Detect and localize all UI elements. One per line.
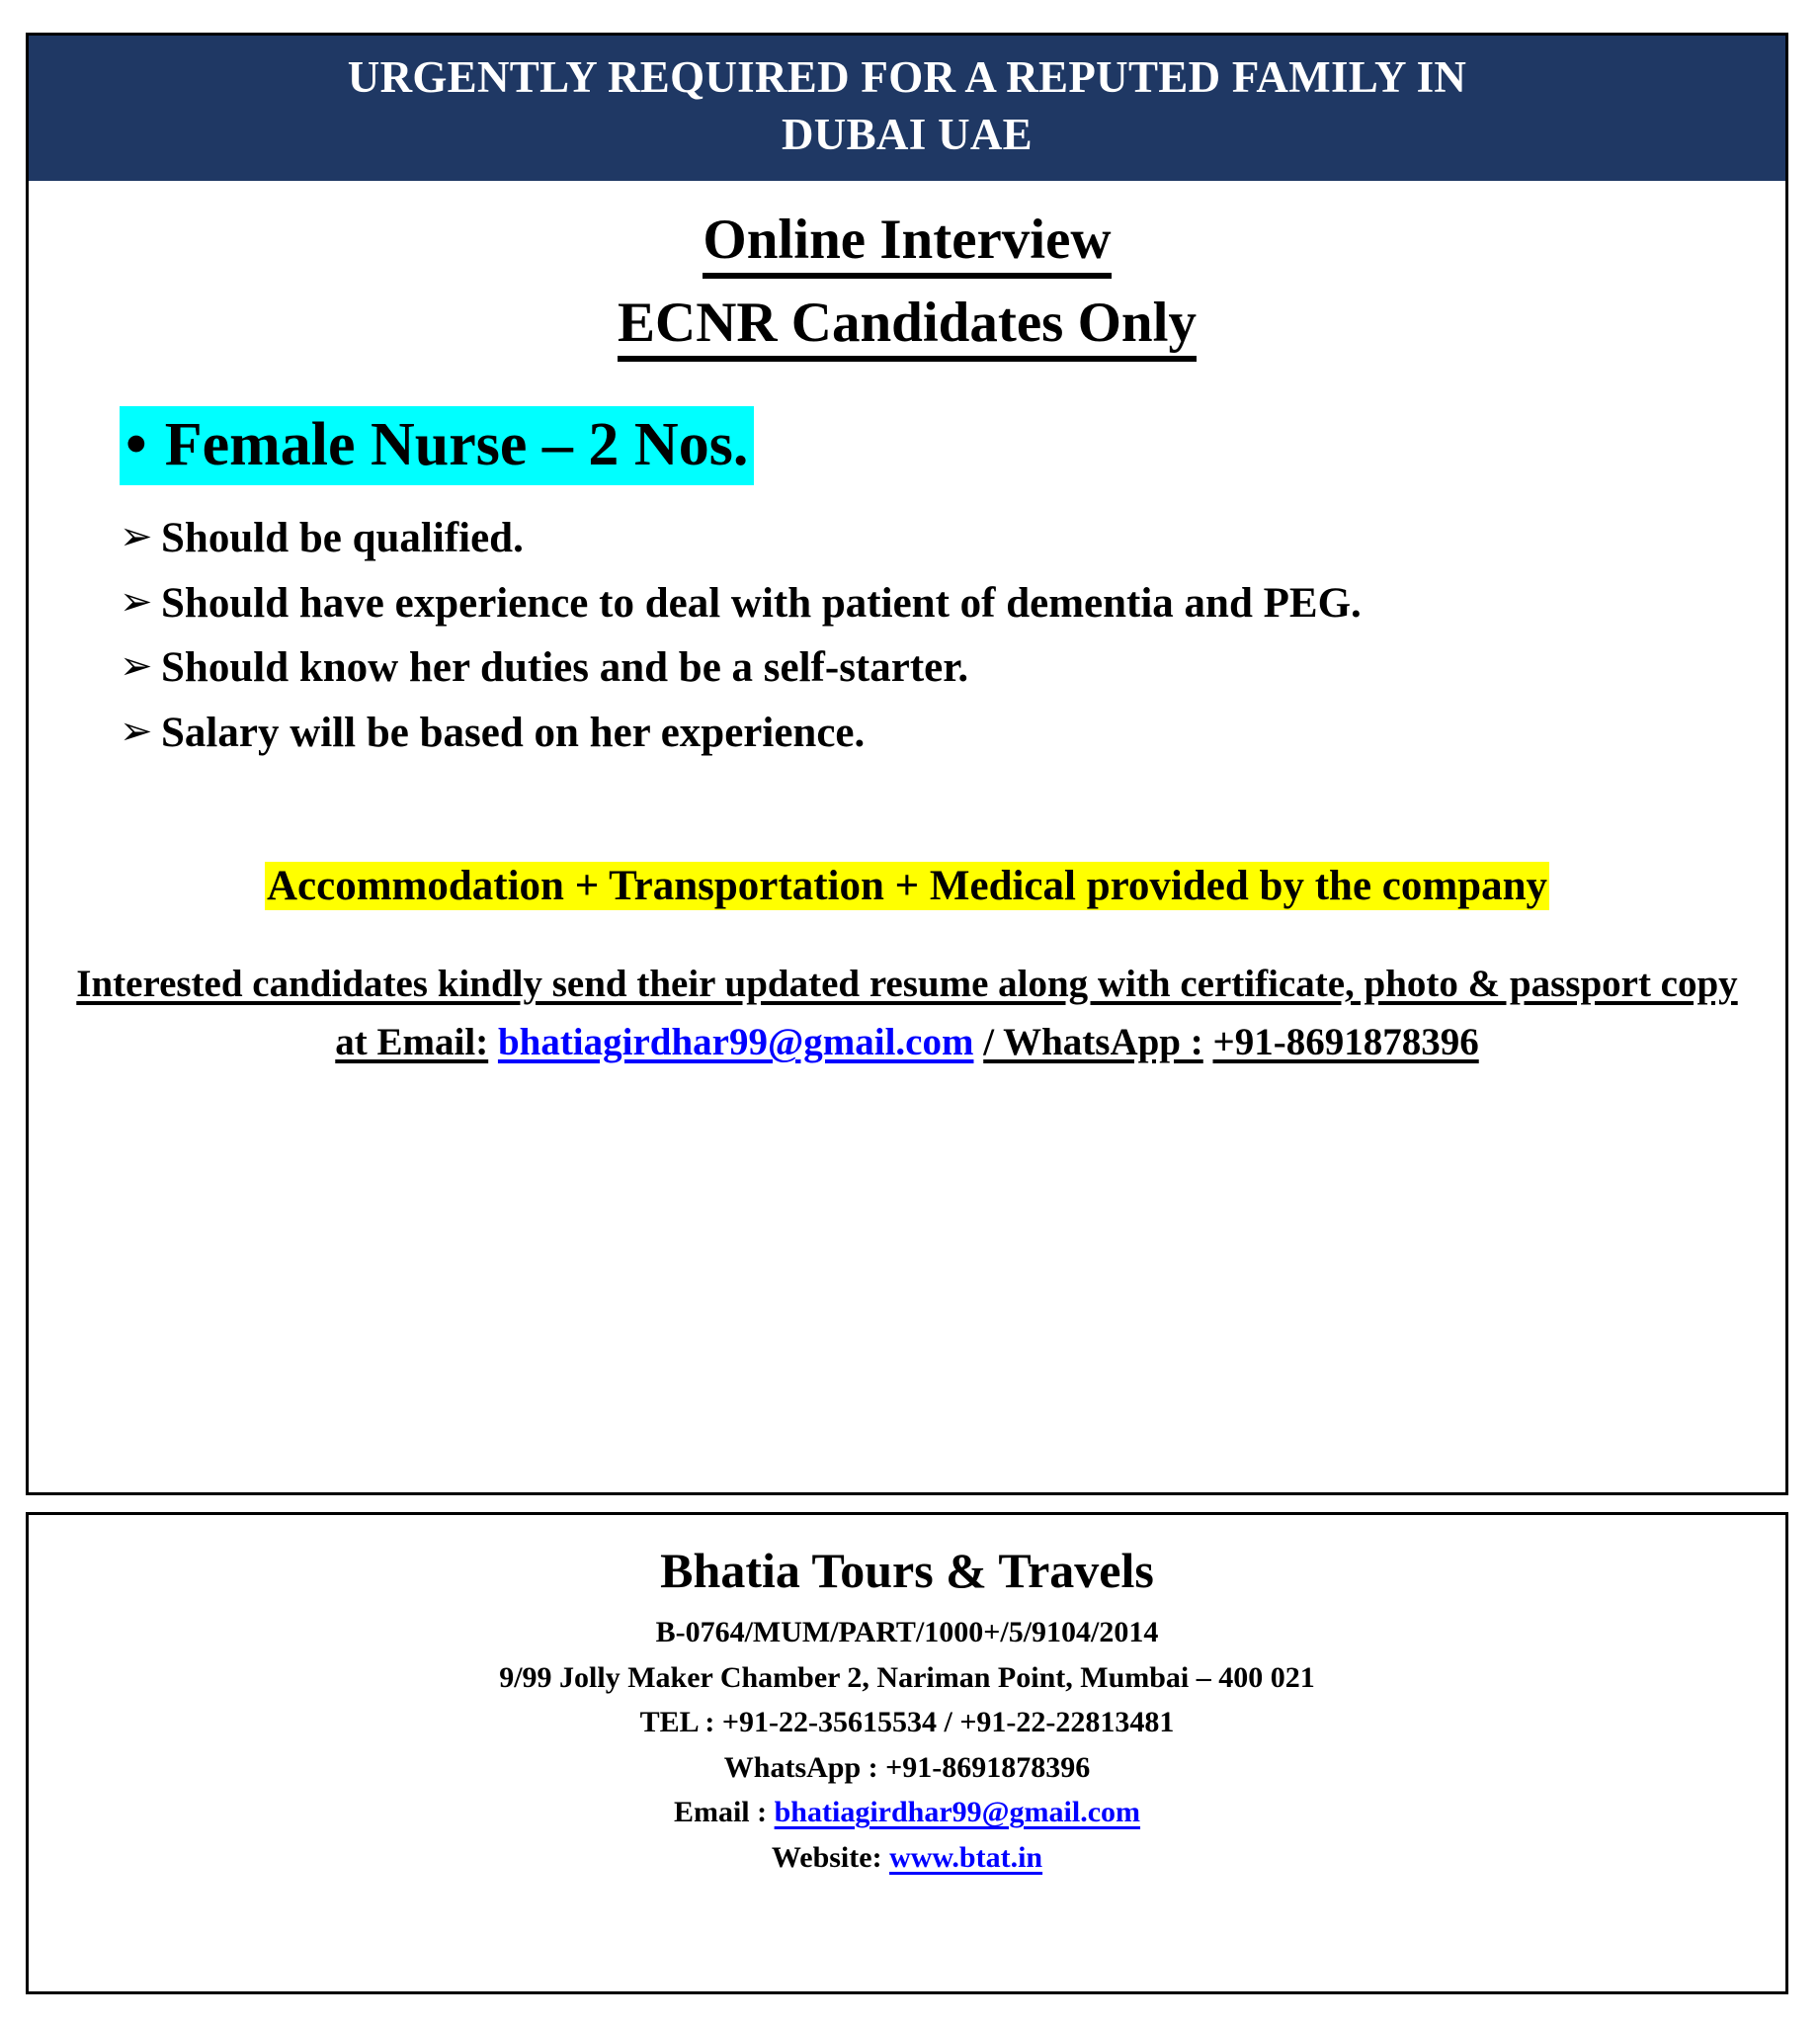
arrow-bullet-icon: ➢ — [120, 636, 161, 697]
company-name: Bhatia Tours & Travels — [29, 1541, 1785, 1600]
company-email-label: Email : — [674, 1796, 767, 1828]
title-ecnr-candidates: ECNR Candidates Only — [62, 292, 1752, 355]
title-online-interview-text: Online Interview — [703, 209, 1111, 279]
company-website-row: Website: www.btat.in — [29, 1835, 1785, 1881]
arrow-bullet-icon: ➢ — [120, 702, 161, 762]
company-email-row: Email : bhatiagirdhar99@gmail.com — [29, 1790, 1785, 1835]
banner-line-2: DUBAI UAE — [68, 107, 1746, 164]
title-ecnr-candidates-text: ECNR Candidates Only — [618, 292, 1197, 362]
job-advertisement-page: URGENTLY REQUIRED FOR A REPUTED FAMILY I… — [0, 0, 1820, 2024]
apply-instructions-part2: / WhatsApp : — [983, 1021, 1203, 1063]
list-item: ➢ Should have experience to deal with pa… — [120, 572, 1752, 635]
apply-email-link[interactable]: bhatiagirdhar99@gmail.com — [498, 1021, 974, 1063]
main-content-box: URGENTLY REQUIRED FOR A REPUTED FAMILY I… — [26, 33, 1788, 1495]
apply-instructions: Interested candidates kindly send their … — [62, 955, 1752, 1072]
role-label: Female Nurse – 2 Nos. — [165, 411, 749, 478]
company-address: 9/99 Jolly Maker Chamber 2, Nariman Poin… — [29, 1655, 1785, 1701]
body-area: Online Interview ECNR Candidates Only •F… — [29, 181, 1785, 1081]
role-row: •Female Nurse – 2 Nos. — [120, 406, 1752, 485]
company-whatsapp: WhatsApp : +91-8691878396 — [29, 1745, 1785, 1791]
requirement-text: Should know her duties and be a self-sta… — [161, 636, 1702, 700]
apply-whatsapp-number: +91-8691878396 — [1213, 1021, 1479, 1063]
requirement-text: Should have experience to deal with pati… — [161, 572, 1702, 635]
title-online-interview: Online Interview — [62, 209, 1752, 272]
perks-text: Accommodation + Transportation + Medical… — [265, 862, 1549, 910]
perks-block: Accommodation + Transportation + Medical… — [62, 856, 1752, 917]
company-email-link[interactable]: bhatiagirdhar99@gmail.com — [775, 1796, 1140, 1828]
arrow-bullet-icon: ➢ — [120, 572, 161, 632]
header-banner: URGENTLY REQUIRED FOR A REPUTED FAMILY I… — [29, 36, 1785, 181]
company-telephone: TEL : +91-22-35615534 / +91-22-22813481 — [29, 1700, 1785, 1745]
banner-line-1: URGENTLY REQUIRED FOR A REPUTED FAMILY I… — [68, 49, 1746, 107]
company-website-link[interactable]: www.btat.in — [889, 1841, 1042, 1874]
footer-contact-box: Bhatia Tours & Travels B-0764/MUM/PART/1… — [26, 1512, 1788, 1994]
company-website-label: Website: — [772, 1841, 882, 1874]
company-license-number: B-0764/MUM/PART/1000+/5/9104/2014 — [29, 1610, 1785, 1655]
list-item: ➢ Should know her duties and be a self-s… — [120, 636, 1752, 700]
list-item: ➢ Should be qualified. — [120, 507, 1752, 570]
requirements-list: ➢ Should be qualified. ➢ Should have exp… — [120, 507, 1752, 765]
list-item: ➢ Salary will be based on her experience… — [120, 702, 1752, 765]
requirement-text: Should be qualified. — [161, 507, 1702, 570]
bullet-dot-icon: • — [125, 408, 147, 481]
arrow-bullet-icon: ➢ — [120, 507, 161, 567]
role-highlight: •Female Nurse – 2 Nos. — [120, 406, 754, 485]
requirement-text: Salary will be based on her experience. — [161, 702, 1702, 765]
